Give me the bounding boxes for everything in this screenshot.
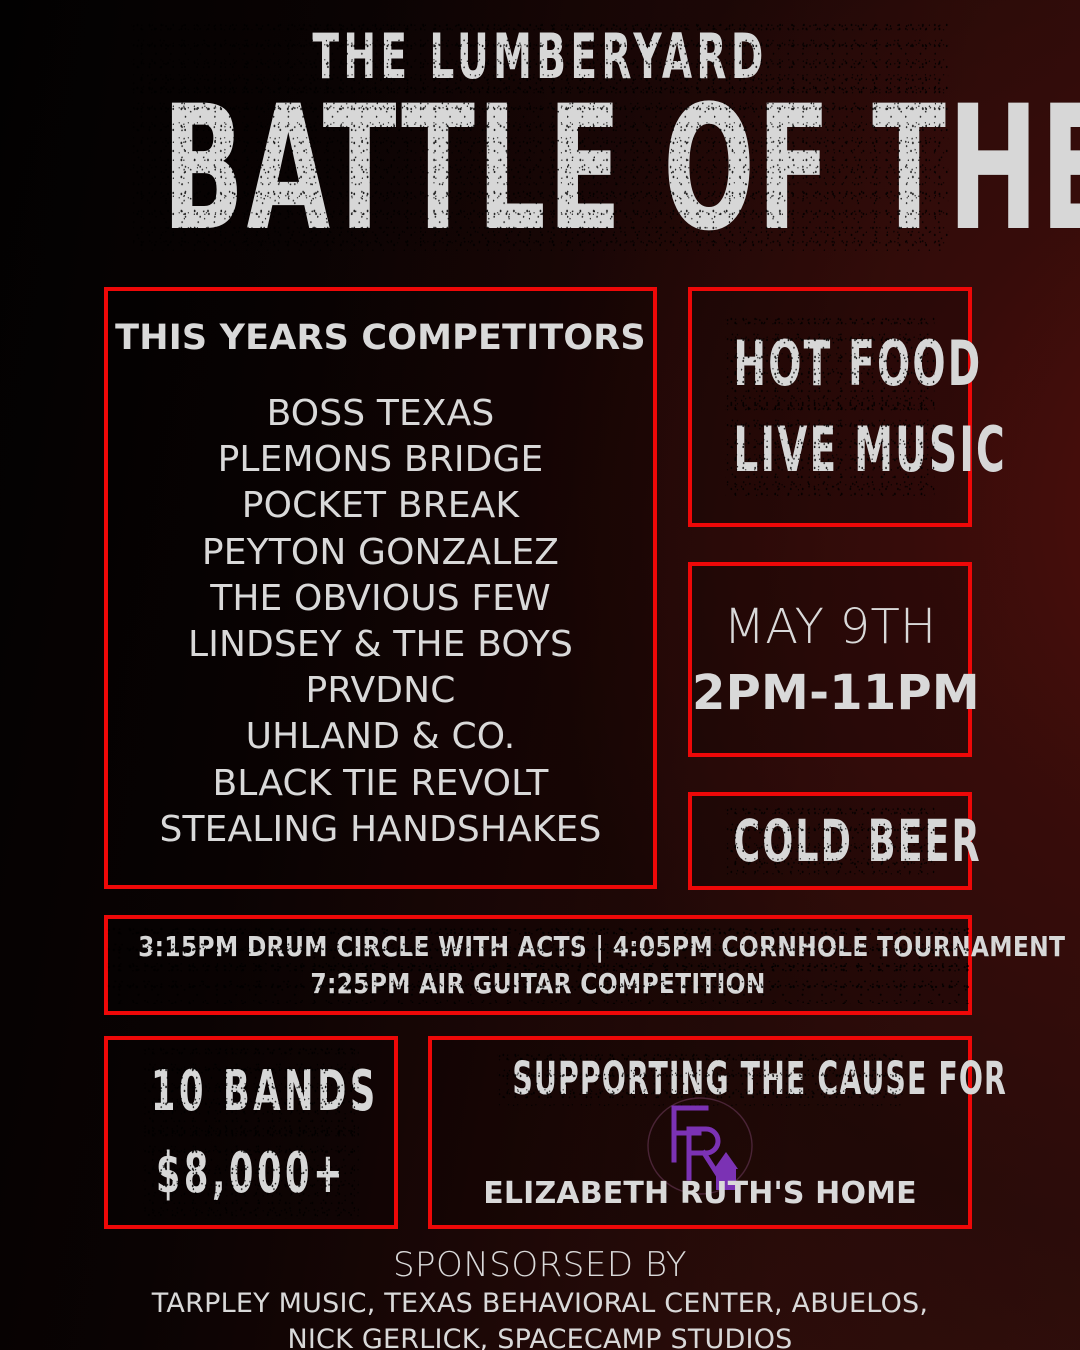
charity-name: ELIZABETH RUTH'S HOME bbox=[432, 1176, 968, 1211]
list-item: BOSS TEXAS bbox=[108, 391, 653, 437]
list-item: THE OBVIOUS FEW bbox=[108, 576, 653, 622]
cold-beer-label: COLD BEER bbox=[733, 810, 926, 872]
prize-amount: $8,000+ bbox=[151, 1133, 351, 1215]
amenity-hot-food: HOT FOOD bbox=[733, 321, 926, 407]
list-item: PEYTON GONZALEZ bbox=[108, 530, 653, 576]
competitors-heading: THIS YEARS COMPETITORS bbox=[108, 318, 653, 358]
schedule-content: 3:15PM DRUM CIRCLE WITH ACTS | 4:05PM CO… bbox=[108, 928, 968, 1002]
schedule-line-2: 7:25PM AIR GUITAR COMPETITION bbox=[138, 965, 938, 1002]
amenities-panel: HOT FOOD LIVE MUSIC bbox=[688, 287, 972, 527]
poster-header: THE LUMBERYARD BATTLE OF THE BANDS bbox=[0, 0, 1080, 244]
event-time: 2PM-11PM bbox=[692, 660, 968, 726]
stats-panel: 10 BANDS $8,000+ bbox=[104, 1036, 398, 1229]
event-poster: THE LUMBERYARD BATTLE OF THE BANDS THIS … bbox=[0, 0, 1080, 1350]
date-panel: MAY 9TH 2PM-11PM bbox=[688, 562, 972, 757]
poster-title: BATTLE OF THE BANDS bbox=[162, 94, 918, 244]
amenity-live-music: LIVE MUSIC bbox=[733, 407, 926, 493]
list-item: LINDSEY & THE BOYS bbox=[108, 622, 653, 668]
band-list: BOSS TEXAS PLEMONS BRIDGE POCKET BREAK P… bbox=[108, 391, 653, 853]
sponsors-section: SPONSORSED BY TARPLEY MUSIC, TEXAS BEHAV… bbox=[0, 1244, 1080, 1350]
schedule-panel: 3:15PM DRUM CIRCLE WITH ACTS | 4:05PM CO… bbox=[104, 915, 972, 1015]
amenities-content: HOT FOOD LIVE MUSIC bbox=[692, 321, 968, 493]
charity-panel: SUPPORTING THE CAUSE FOR ELIZABETH RUTH'… bbox=[428, 1036, 972, 1229]
competitors-panel: THIS YEARS COMPETITORS BOSS TEXAS PLEMON… bbox=[104, 287, 657, 889]
sponsors-line-1: TARPLEY MUSIC, TEXAS BEHAVIORAL CENTER, … bbox=[0, 1286, 1080, 1322]
event-date: MAY 9TH bbox=[692, 594, 968, 660]
list-item: STEALING HANDSHAKES bbox=[108, 807, 653, 853]
list-item: PLEMONS BRIDGE bbox=[108, 437, 653, 483]
list-item: BLACK TIE REVOLT bbox=[108, 761, 653, 807]
sponsors-heading: SPONSORSED BY bbox=[0, 1244, 1080, 1286]
band-count: 10 BANDS bbox=[151, 1051, 351, 1133]
date-content: MAY 9TH 2PM-11PM bbox=[692, 594, 968, 726]
list-item: PRVDNC bbox=[108, 668, 653, 714]
sponsors-line-2: NICK GERLICK, SPACECAMP STUDIOS bbox=[0, 1322, 1080, 1350]
list-item: UHLAND & CO. bbox=[108, 714, 653, 760]
stats-content: 10 BANDS $8,000+ bbox=[108, 1051, 394, 1215]
beer-panel: COLD BEER bbox=[688, 792, 972, 890]
schedule-line-1: 3:15PM DRUM CIRCLE WITH ACTS | 4:05PM CO… bbox=[138, 928, 938, 965]
beer-content: COLD BEER bbox=[692, 810, 968, 872]
list-item: POCKET BREAK bbox=[108, 483, 653, 529]
